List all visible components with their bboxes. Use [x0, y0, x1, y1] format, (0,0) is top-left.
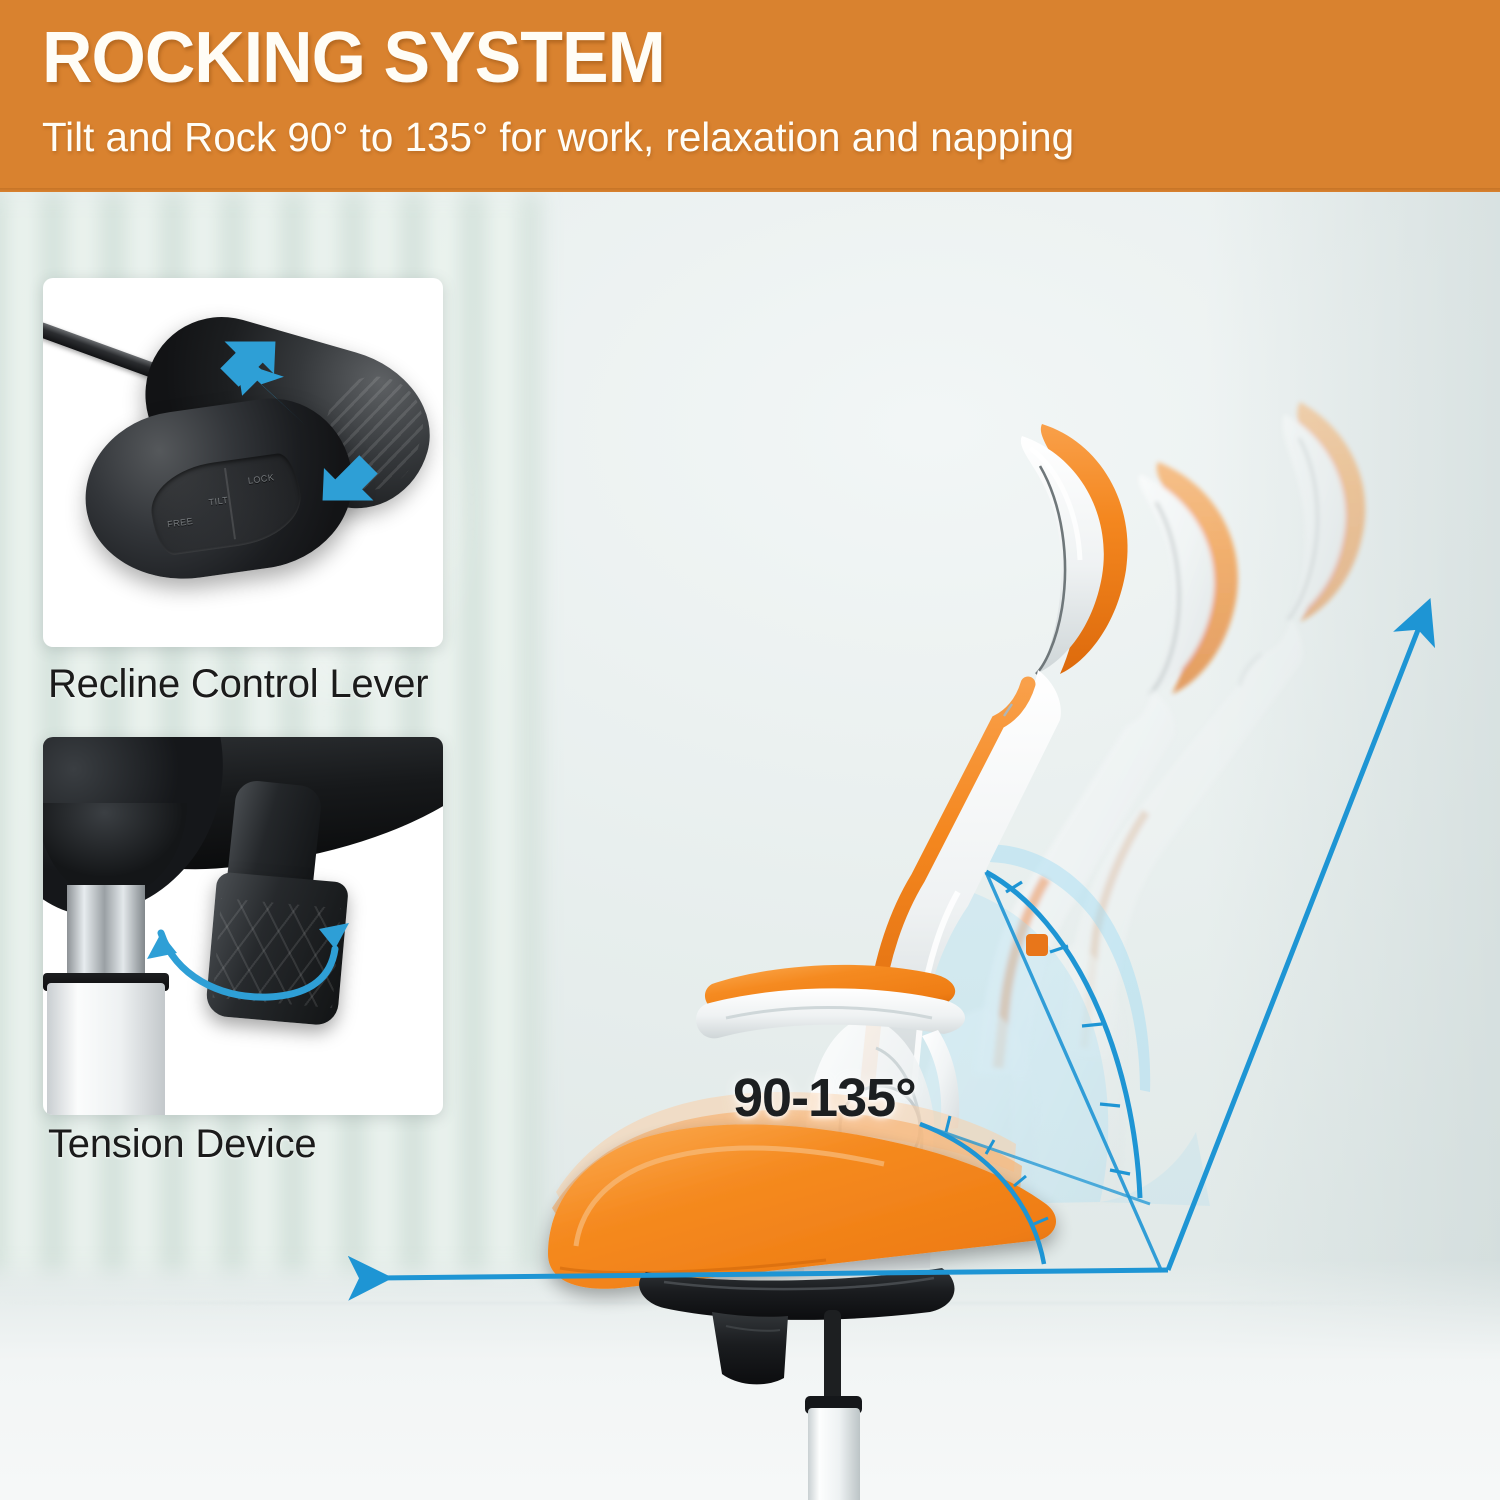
- page-title: ROCKING SYSTEM: [42, 22, 665, 94]
- inset-label-recline-control-lever: Recline Control Lever: [48, 662, 428, 707]
- inset-label-tension-device: Tension Device: [48, 1122, 316, 1167]
- down-arrow-icon-shape: [307, 444, 389, 526]
- circular-arrow-icon: [161, 933, 335, 997]
- headrest: [1021, 424, 1128, 674]
- inset-tension-device[interactable]: [43, 737, 443, 1115]
- header-banner: ROCKING SYSTEM Tilt and Rock 90° to 135°…: [0, 0, 1500, 192]
- inset-recline-control-lever[interactable]: FREE TILT LOCK: [43, 278, 443, 647]
- infographic-canvas: ROCKING SYSTEM Tilt and Rock 90° to 135°…: [0, 0, 1500, 1500]
- lever-direction-arrows: [43, 278, 443, 647]
- tilt-mechanism: [712, 1310, 839, 1392]
- angle-range-label: 90-135°: [733, 1067, 916, 1129]
- tension-rotation-arrow: [43, 737, 443, 1115]
- page-subtitle: Tilt and Rock 90° to 135° for work, rela…: [42, 117, 1074, 158]
- product-scene: 90-135° FREE TILT LOCK: [0, 192, 1500, 1500]
- rotation-arrowhead-right: [319, 923, 349, 949]
- gas-cylinder: [805, 1310, 862, 1500]
